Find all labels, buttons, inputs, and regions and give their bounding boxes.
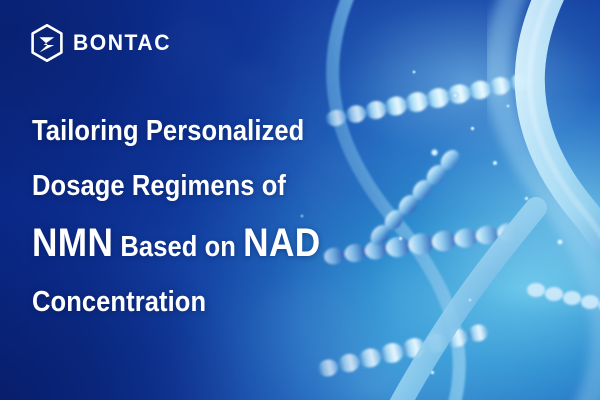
- brand-name: BONTAC: [73, 32, 171, 54]
- headline-line-2: Dosage Regimens of: [32, 159, 349, 214]
- glow-particle: [470, 126, 475, 131]
- headline-emphasis-nmn: NMN: [32, 221, 113, 265]
- headline-emphasis-nad: NAD: [243, 221, 320, 265]
- glow-particle: [468, 298, 472, 302]
- headline-block: Tailoring Personalized Dosage Regimens o…: [32, 104, 392, 328]
- glow-particle: [524, 196, 529, 201]
- headline-line-4: Concentration: [32, 276, 349, 328]
- bontac-hexagon-logo-icon: [30, 24, 64, 62]
- headline-line-3: NMN Based on NAD: [32, 214, 349, 276]
- glow-particle: [430, 370, 435, 375]
- glow-particle: [492, 160, 498, 166]
- glow-particle: [412, 70, 416, 74]
- headline-line-1: Tailoring Personalized: [32, 104, 349, 159]
- promo-banner: BONTAC Tailoring Personalized Dosage Reg…: [0, 0, 600, 400]
- glow-particle: [398, 236, 403, 241]
- glow-particle: [430, 148, 439, 157]
- glow-particle: [556, 238, 564, 246]
- headline-connector: Based on: [120, 231, 236, 263]
- brand-logo[interactable]: BONTAC: [30, 24, 175, 62]
- glow-particle: [506, 104, 510, 108]
- glow-particle: [452, 92, 459, 99]
